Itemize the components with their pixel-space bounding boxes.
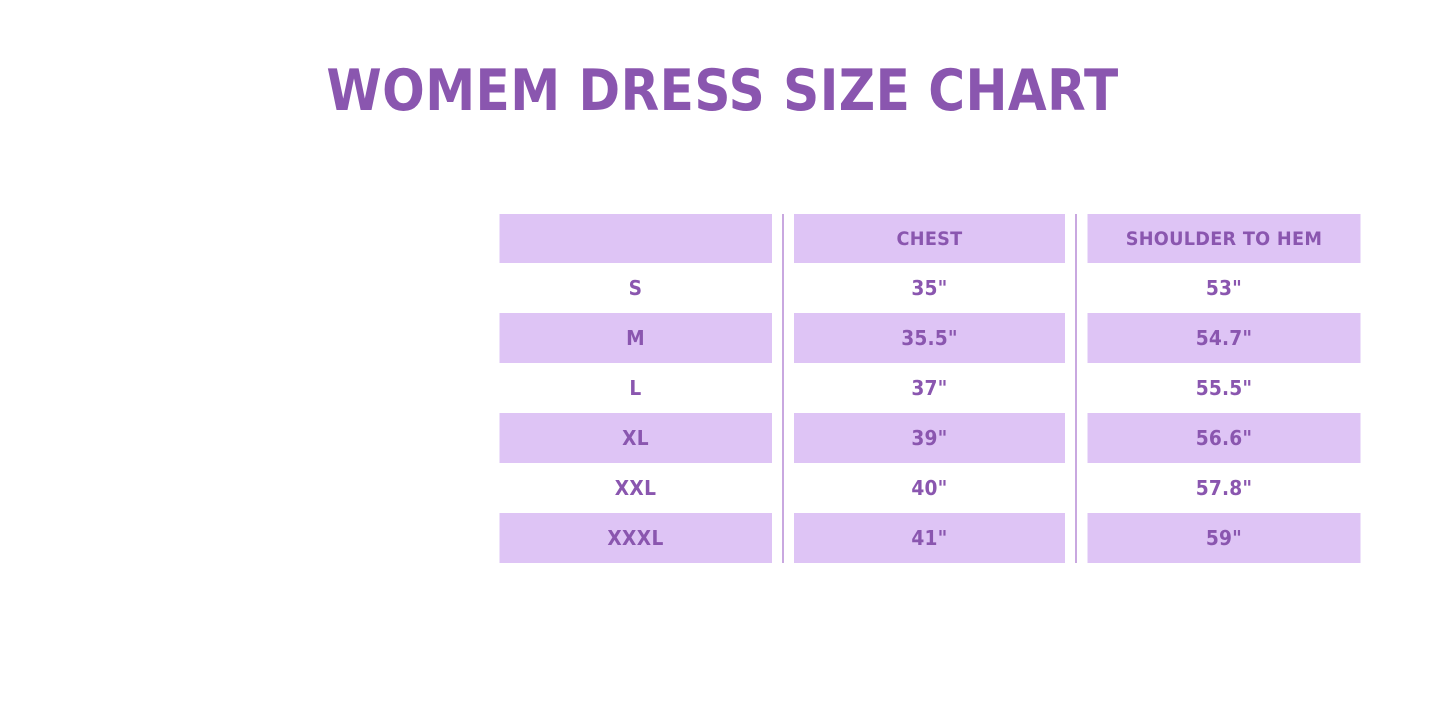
table-row: M 35.5" 54.7" (489, 313, 1371, 363)
cell-shoulder-to-hem: 59" (1086, 513, 1360, 563)
table-row: XXXL 41" 59" (489, 513, 1371, 563)
cell-chest: 41" (793, 513, 1065, 563)
cell-size: L (499, 363, 772, 413)
cell-size: XL (499, 413, 772, 463)
table-body: S 35" 53" M 35.5" 54.7" L 37" 55.5" XL 3… (489, 263, 1371, 563)
column-header-size (499, 214, 772, 263)
cell-size: XXL (499, 463, 772, 513)
table-row: L 37" 55.5" (489, 363, 1371, 413)
cell-chest: 35" (793, 263, 1065, 313)
table-row: XL 39" 56.6" (489, 413, 1371, 463)
table-header: CHEST SHOULDER TO HEM (489, 214, 1371, 263)
cell-chest: 35.5" (793, 313, 1065, 363)
cell-shoulder-to-hem: 54.7" (1086, 313, 1360, 363)
cell-shoulder-to-hem: 53" (1086, 263, 1360, 313)
page-title: WOMEM DRESS SIZE CHART (87, 55, 1359, 127)
table-header-row: CHEST SHOULDER TO HEM (489, 214, 1371, 263)
cell-size: S (499, 263, 772, 313)
cell-shoulder-to-hem: 57.8" (1086, 463, 1360, 513)
size-chart-table: CHEST SHOULDER TO HEM S 35" 53" M 35.5" … (489, 214, 1371, 563)
column-header-chest: CHEST (793, 214, 1065, 263)
cell-shoulder-to-hem: 56.6" (1086, 413, 1360, 463)
cell-chest: 37" (793, 363, 1065, 413)
cell-shoulder-to-hem: 55.5" (1086, 363, 1360, 413)
table-row: S 35" 53" (489, 263, 1371, 313)
cell-chest: 40" (793, 463, 1065, 513)
cell-size: XXXL (499, 513, 772, 563)
column-header-shoulder-to-hem: SHOULDER TO HEM (1086, 214, 1360, 263)
size-chart-page: WOMEM DRESS SIZE CHART CHEST SHOULDER TO… (0, 0, 1445, 723)
cell-chest: 39" (793, 413, 1065, 463)
table-row: XXL 40" 57.8" (489, 463, 1371, 513)
cell-size: M (499, 313, 772, 363)
